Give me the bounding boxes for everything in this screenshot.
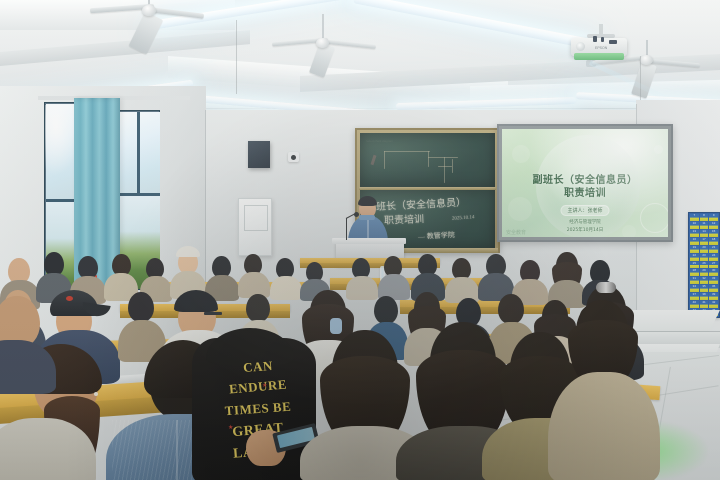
camera-lens-icon xyxy=(291,155,296,160)
hoodie-star-1: ★ xyxy=(262,382,267,389)
ceiling-fan-2 xyxy=(250,14,400,76)
slide-presenter-pill: 主讲人：张老师 xyxy=(560,205,609,216)
hoodie-line-1: CAN xyxy=(206,356,311,376)
projection-screen[interactable]: 副班长（安全信息员） 职责培训 主讲人：张老师 经济与管理学院 2025年10月… xyxy=(497,124,673,242)
person-front-tan xyxy=(552,300,664,480)
blackboard-upper-panel: faded chalk diagram xyxy=(360,133,495,187)
head-m3 xyxy=(128,292,154,322)
projector-label: EPSON xyxy=(595,46,607,50)
body-f8 xyxy=(0,340,56,394)
body-f7 xyxy=(548,372,660,480)
pocket-slot[interactable]: 7 xyxy=(690,214,699,221)
slide-watermark: 安全教育 xyxy=(506,229,526,236)
blackboard-date: 2025.10.14 xyxy=(452,215,475,222)
hoodie-line-2: ENDURE xyxy=(206,375,311,397)
pocket-slot[interactable]: 14 xyxy=(700,230,709,237)
hanging-wire-2 xyxy=(640,56,641,104)
presenter-collar xyxy=(359,215,375,220)
pocket-slot[interactable]: 15 xyxy=(709,230,718,237)
pocket-slot[interactable]: 11 xyxy=(700,222,709,229)
slide-title-line2: 职责培训 xyxy=(502,184,668,199)
hair-m4 xyxy=(174,290,218,312)
cap-b6 xyxy=(176,246,200,257)
hoodie-line-3: TIMES BE xyxy=(206,398,311,418)
head-m7 xyxy=(374,296,398,324)
classroom-photo: faded chalk diagram 副班长（安全信息员） 职责培训 2025… xyxy=(0,0,720,480)
wall-speaker xyxy=(248,141,270,168)
slide-circle-1 xyxy=(512,145,530,163)
pocket-slot[interactable]: 12 xyxy=(709,222,718,229)
blackboard-upper-note: faded chalk diagram xyxy=(366,139,393,143)
flipchart-page xyxy=(244,205,268,231)
slide-circle-2 xyxy=(508,197,532,221)
hanging-wire-1 xyxy=(236,20,237,94)
pocket-slot[interactable]: 13 xyxy=(690,230,699,237)
slide-sub-line2: 2025年10月14日 xyxy=(502,227,668,233)
slide-sub-line1: 经济与管理学院 xyxy=(502,219,668,225)
slide-circle-3 xyxy=(654,145,663,154)
pocket-slot[interactable]: 10 xyxy=(690,222,699,229)
hoodie-star-2: ★ xyxy=(228,424,233,431)
microphone-head xyxy=(354,212,359,217)
presenter-hair xyxy=(358,196,377,206)
hair-clip xyxy=(596,282,616,293)
head-m10 xyxy=(498,294,524,324)
cap-logo xyxy=(66,296,73,301)
slide-content: 副班长（安全信息员） 职责培训 主讲人：张老师 经济与管理学院 2025年10月… xyxy=(502,129,668,237)
pocket-slot[interactable]: 9 xyxy=(709,214,718,221)
pocket-slot[interactable]: 8 xyxy=(700,214,709,221)
security-camera xyxy=(288,152,299,162)
microphone-stand[interactable] xyxy=(346,218,347,240)
ceiling-fan-1 xyxy=(90,0,270,60)
person-front-far-left xyxy=(0,296,56,392)
